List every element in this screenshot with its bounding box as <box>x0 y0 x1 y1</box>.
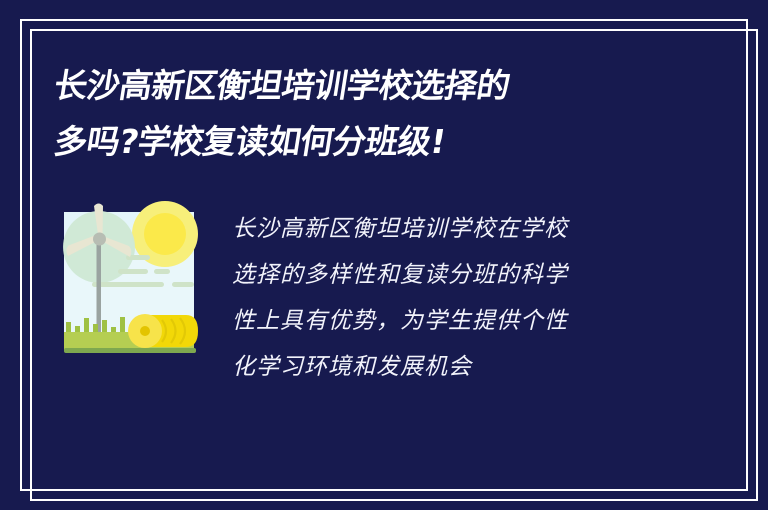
turbine-hub <box>93 233 106 246</box>
body-line-4: 化学习环境和发展机会 <box>232 344 662 390</box>
body-line-1: 长沙高新区衡坦培训学校在学校 <box>232 206 662 252</box>
headline-line-2: 多吗?学校复读如何分班级! <box>50 114 659 170</box>
ground-line <box>64 348 196 353</box>
hay-bale <box>128 314 198 348</box>
body-paragraph: 长沙高新区衡坦培训学校在学校 选择的多样性和复读分班的科学 性上具有优势，为学生… <box>232 206 662 390</box>
headline-line-1: 长沙高新区衡坦培训学校选择的 <box>50 58 659 114</box>
body-line-3: 性上具有优势，为学生提供个性 <box>232 298 662 344</box>
wind-farm-illustration <box>56 200 206 380</box>
sun-core-icon <box>144 213 186 255</box>
body-line-2: 选择的多样性和复读分班的科学 <box>232 252 662 298</box>
hay-bale-center <box>140 326 150 336</box>
headline-block: 长沙高新区衡坦培训学校选择的 多吗?学校复读如何分班级! <box>50 58 650 170</box>
poster-canvas: 长沙高新区衡坦培训学校选择的 多吗?学校复读如何分班级! 长沙高新区衡坦培训学校… <box>0 0 768 510</box>
